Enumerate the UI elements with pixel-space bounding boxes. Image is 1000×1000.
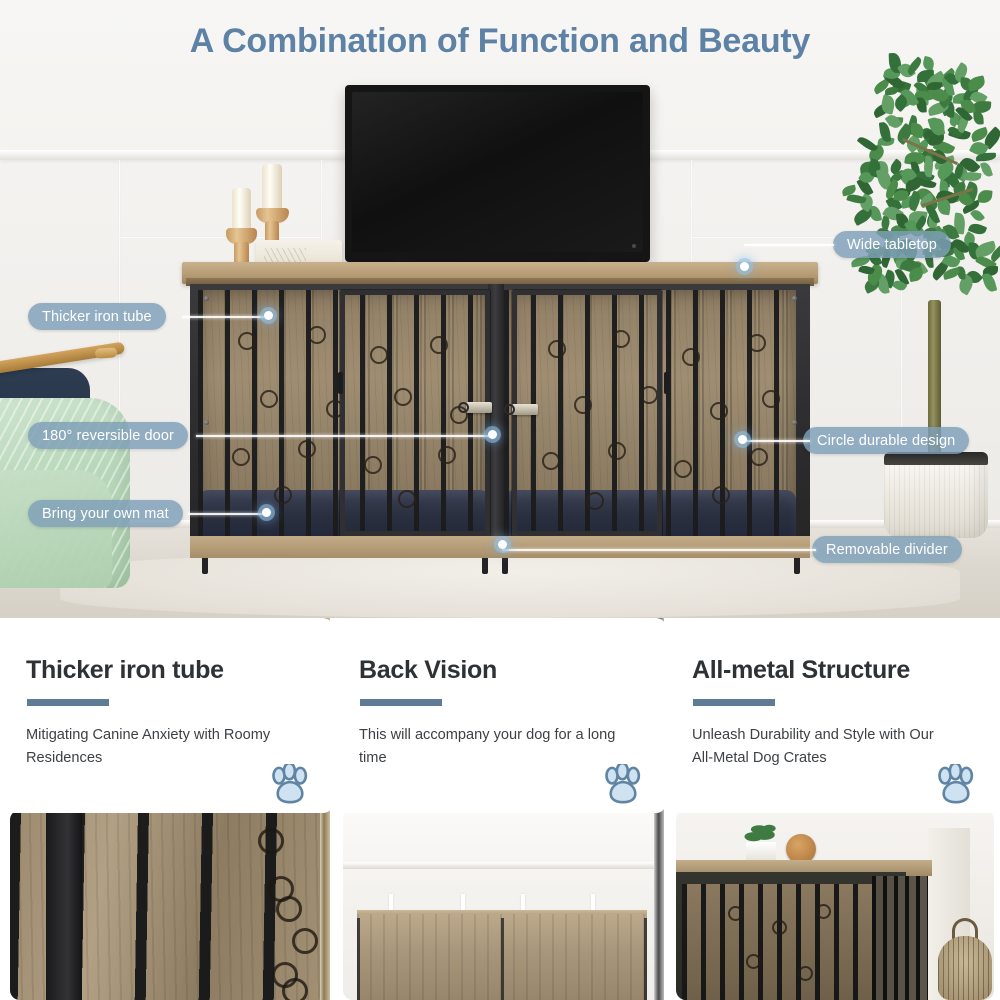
feature-image-2 [343,810,661,1000]
circle-ornament [772,920,787,935]
removable-divider-post [488,284,504,542]
callout-dot-bring-your-own-mat [262,508,271,517]
callout-dot-circle-durable-design [738,435,747,444]
callout-leader-line [188,513,266,515]
frame-screw [204,420,209,425]
circle-ornament [746,954,761,969]
crate-door-left[interactable] [340,290,490,536]
circle-ornament [762,390,780,408]
feature-column-3: All-metal Structure Unleash Durability a… [666,618,999,1000]
infographic-page: Thicker iron tube 180° reversible door B… [0,0,1000,1000]
callout-leader-line [182,316,268,318]
circle-ornament [274,486,292,504]
circle-ornament [750,448,768,466]
feature-column-2: Back Vision This will accompany your dog… [333,618,666,1000]
door-latch-ring-left [458,402,469,413]
iron-pillar [46,810,82,1000]
feature-underline [27,699,109,706]
feature-description-3: Unleash Durability and Style with Our Al… [692,724,957,769]
callout-leader-line [502,549,816,551]
callout-pill-reversible-door: 180° reversible door [28,422,188,449]
callout-dot-thicker-iron-tube [264,311,273,320]
candle [262,164,282,210]
knit-blanket-fold [0,470,112,588]
rattan-lantern [938,936,992,1000]
features-section: Thicker iron tube Mitigating Canine Anxi… [0,618,1000,1000]
circle-ornament [798,966,813,981]
wall-molding [343,862,661,869]
paw-icon [935,764,977,808]
callout-leader-line [744,440,810,442]
circle-ornament [728,906,743,921]
panel-seam [357,918,360,1000]
circle-ornament [238,332,256,350]
door-hinge [338,372,343,394]
frame-screw [204,296,209,301]
circle-ornament [308,326,326,344]
hero-section: Thicker iron tube 180° reversible door B… [0,0,1000,618]
circle-ornament [282,978,308,1000]
circle-ornament [712,486,730,504]
page-title: A Combination of Function and Beauty [0,22,1000,61]
panel-seam [644,918,647,1000]
callout-pill-circle-durable-design: Circle durable design [803,427,969,454]
tv-screen [352,92,643,252]
circle-ornament [292,928,318,954]
panel-seam [501,918,504,1000]
door-hinge [664,372,669,394]
callout-dot-wide-tabletop [740,262,749,271]
succulent-plant [742,822,780,844]
armchair-arm-tip [95,347,118,359]
crate-side-bars [872,876,928,1000]
callout-pill-thicker-iron-tube: Thicker iron tube [28,303,166,330]
paw-icon [269,764,311,808]
feature-title-3: All-metal Structure [692,656,973,685]
feature-image-1 [10,810,328,1000]
feature-image-3 [676,810,994,1000]
door-latch-ring-right [504,404,515,415]
callout-dot-reversible-door [488,430,497,439]
circle-ornament [816,904,831,919]
paw-icon [602,764,644,808]
feature-title-1: Thicker iron tube [26,656,307,685]
circle-ornament [260,390,278,408]
crate-iron-bars [682,884,872,1000]
circle-ornament [232,448,250,466]
callout-pill-bring-your-own-mat: Bring your own mat [28,500,183,527]
crate-foot [202,558,208,574]
circle-ornament [682,348,700,366]
wall-panel-line [118,236,320,239]
crate-foot [502,558,508,574]
callout-leader-line [744,244,834,246]
callout-pill-removable-divider: Removable divider [812,536,962,563]
frame-screw [792,296,797,301]
feature-title-2: Back Vision [359,656,640,685]
candle [232,188,251,230]
circle-ornament [276,896,302,922]
television [345,85,650,262]
feature-underline [693,699,775,706]
frame-screw [792,420,797,425]
feature-underline [360,699,442,706]
callout-leader-line [196,435,492,437]
callout-pill-wide-tabletop: Wide tabletop [833,231,951,258]
callout-dot-removable-divider [498,540,507,549]
feature-description-2: This will accompany your dog for a long … [359,724,624,769]
crate-foot [482,558,488,574]
crate-foot [794,558,800,574]
succulent-pot [746,842,776,862]
tv-power-led [632,244,636,248]
feature-description-1: Mitigating Canine Anxiety with Roomy Res… [26,724,291,769]
circle-ornament [710,402,728,420]
circle-ornament [674,460,692,478]
feature-column-1: Thicker iron tube Mitigating Canine Anxi… [0,618,333,1000]
circle-ornament [258,828,284,854]
circle-ornament [748,334,766,352]
circle-ornament [298,440,316,458]
dog-crate-furniture [182,262,818,570]
door-latch-right[interactable] [512,404,538,415]
door-latch-left[interactable] [466,402,492,413]
